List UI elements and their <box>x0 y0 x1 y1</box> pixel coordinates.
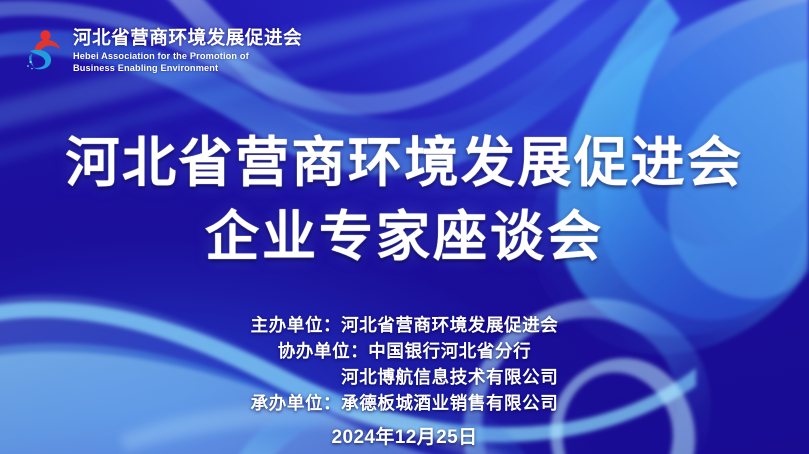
credit-value: 河北博航信息技术有限公司 <box>341 367 558 387</box>
logo-english-line2: Business Enabling Environment <box>73 63 302 75</box>
credit-row: 协办单位：河北博航信息技术有限公司 <box>0 364 809 390</box>
association-logo-text: 河北省营商环境发展促进会 Hebei Association for the P… <box>73 29 302 75</box>
credit-value: 承德板城酒业销售有限公司 <box>341 393 558 413</box>
title-line-1: 河北省营商环境发展促进会 <box>0 126 809 200</box>
association-logo: 河北省营商环境发展促进会 Hebei Association for the P… <box>22 28 302 76</box>
association-logo-mark <box>22 28 66 76</box>
conference-banner: 河北省营商环境发展促进会 Hebei Association for the P… <box>0 0 809 454</box>
credit-row: 协办单位：中国银行河北省分行 <box>0 338 809 364</box>
logo-english-name: Hebei Association for the Promotion of B… <box>73 51 302 75</box>
title-line-2: 企业专家座谈会 <box>0 200 809 274</box>
banner-title: 河北省营商环境发展促进会 企业专家座谈会 <box>0 126 809 274</box>
credit-value: 中国银行河北省分行 <box>368 341 531 361</box>
event-date: 2024年12月25日 <box>0 422 809 449</box>
logo-dot-icon <box>40 30 50 40</box>
credits-block: 主办单位：河北省营商环境发展促进会 协办单位：中国银行河北省分行 协办单位：河北… <box>0 312 809 416</box>
credit-label: 承办单位： <box>251 390 342 416</box>
logo-tail-shape <box>29 54 34 67</box>
credit-value: 河北省营商环境发展促进会 <box>341 315 558 335</box>
credit-label: 主办单位： <box>251 312 342 338</box>
credit-row: 承办单位：承德板城酒业销售有限公司 <box>0 390 809 416</box>
credit-label: 协办单位： <box>278 338 369 364</box>
logo-wave-shape <box>30 50 51 70</box>
logo-chinese-name: 河北省营商环境发展促进会 <box>73 29 302 48</box>
logo-english-line1: Hebei Association for the Promotion of <box>73 51 302 63</box>
credit-row: 主办单位：河北省营商环境发展促进会 <box>0 312 809 338</box>
